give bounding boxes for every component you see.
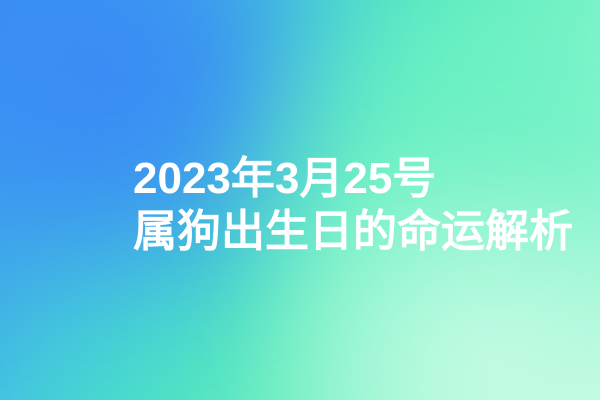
title-line-2: 属狗出生日的命运解析 <box>133 205 553 258</box>
title-card: 2023年3月25号 属狗出生日的命运解析 <box>0 0 600 400</box>
title-line-1: 2023年3月25号 <box>133 152 553 205</box>
title-block: 2023年3月25号 属狗出生日的命运解析 <box>133 152 553 258</box>
